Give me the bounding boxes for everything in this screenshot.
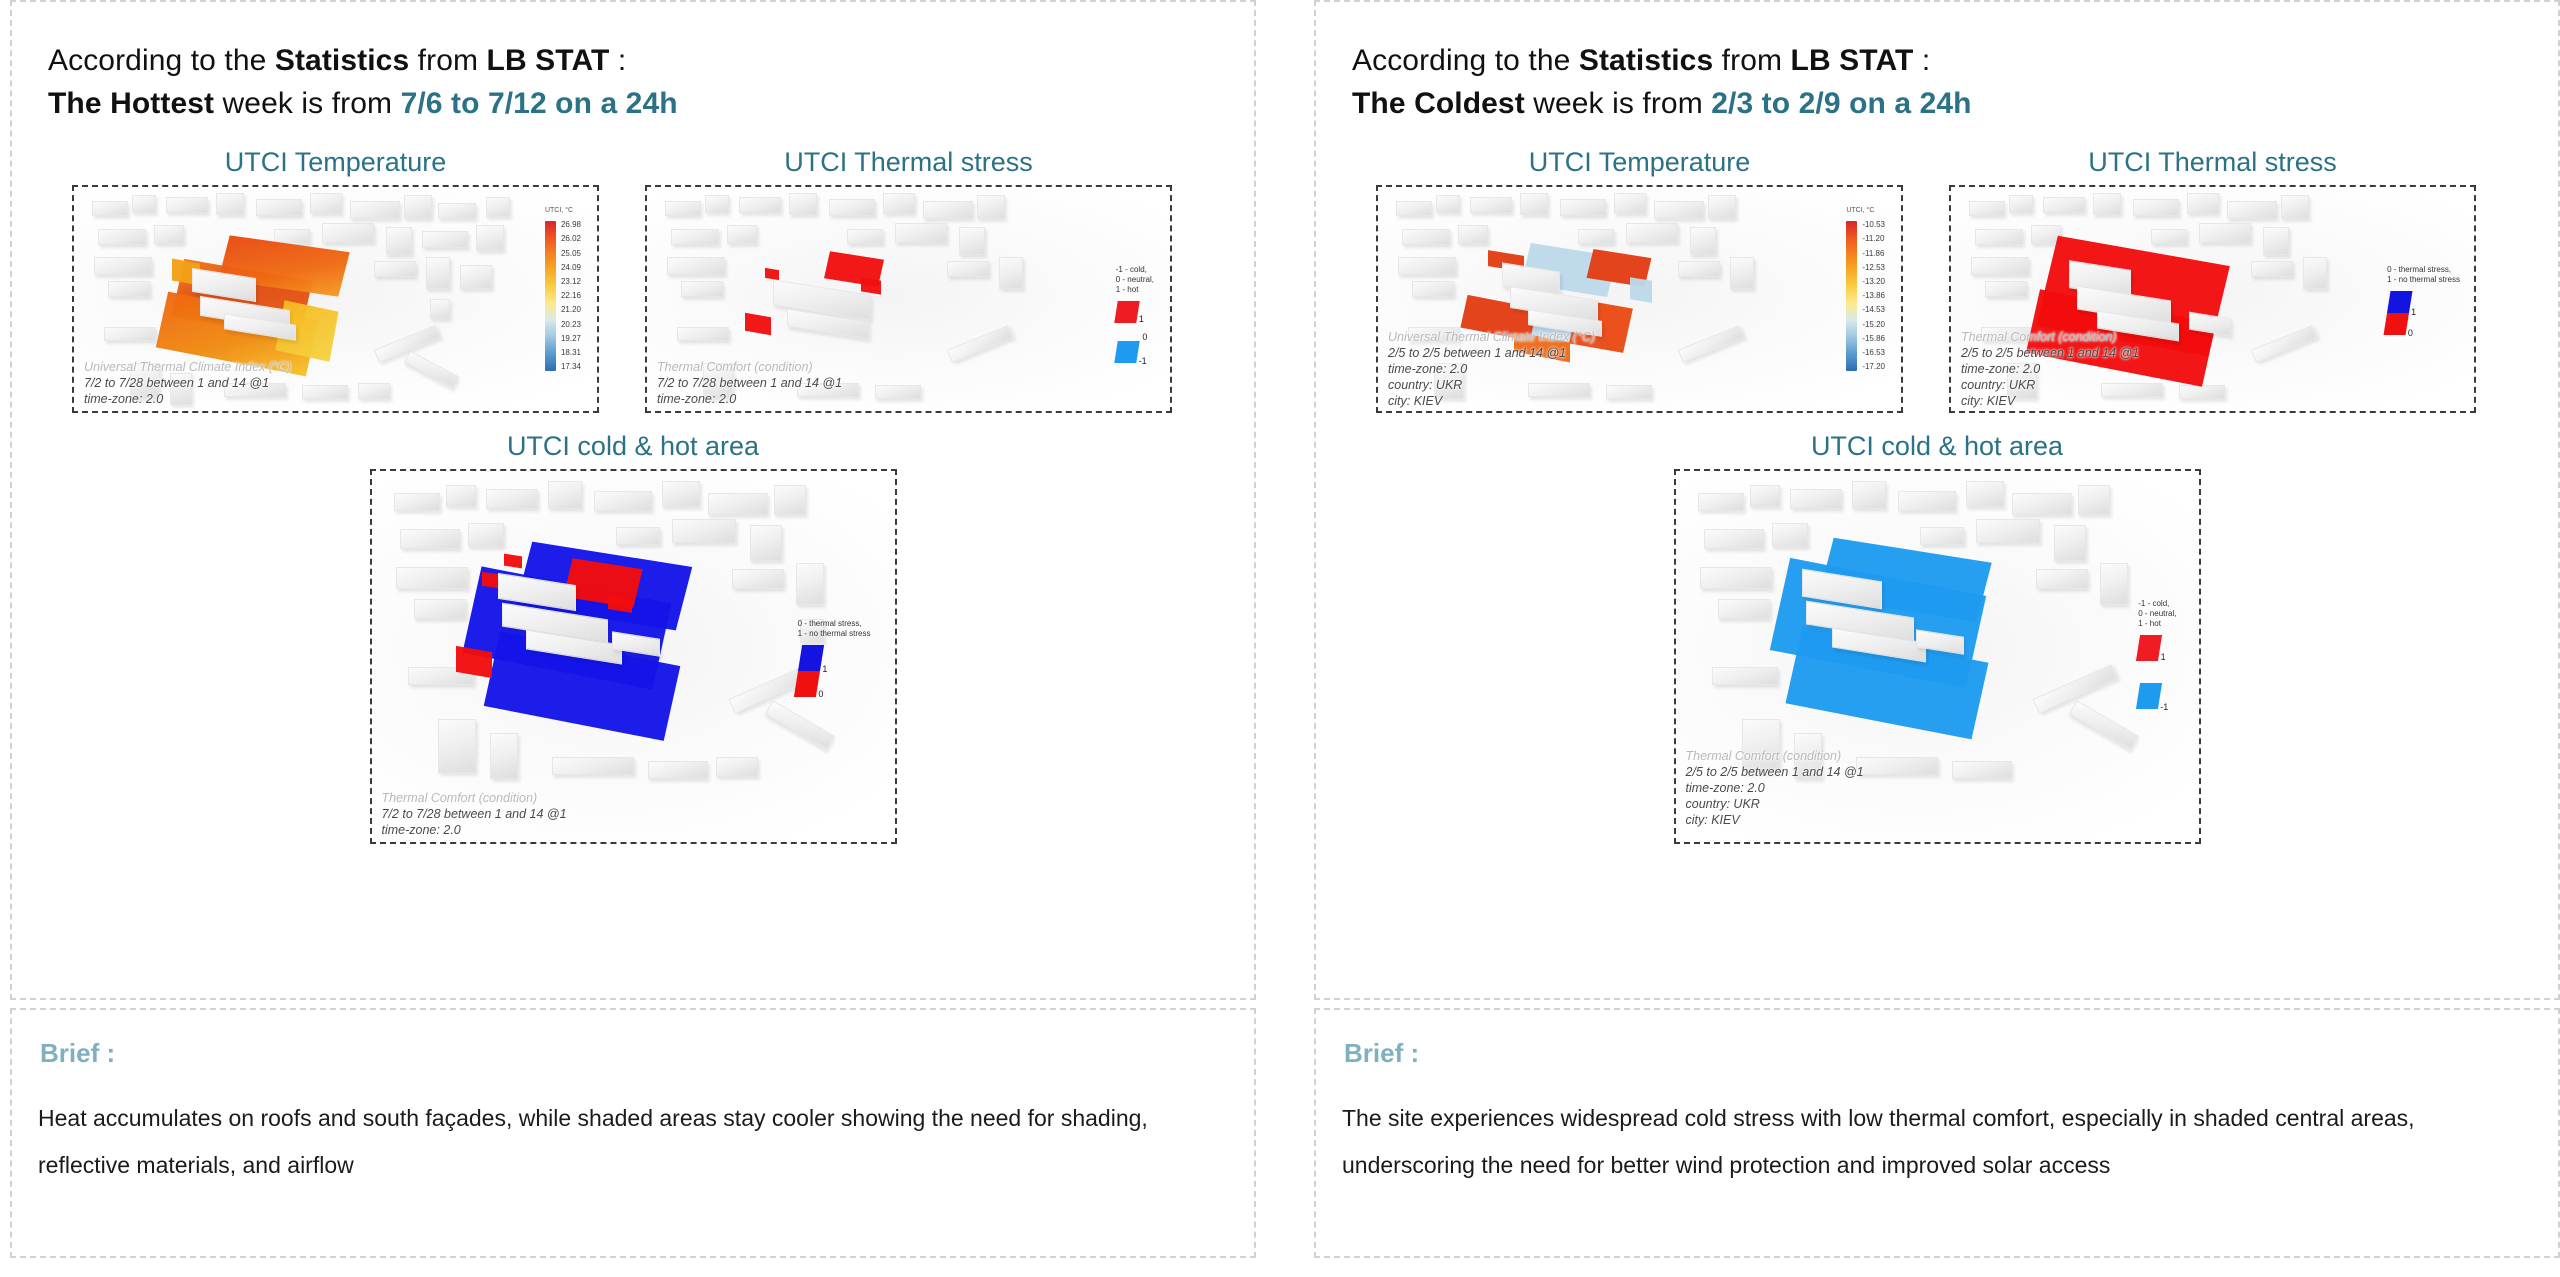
hottest-utci-colorbar: UTCI, °C 26.98 26.02 25.05 24.09 23.12 2… xyxy=(545,221,581,371)
colorbar-tick: -11.20 xyxy=(1862,235,1885,243)
colorbar-tick: -13.20 xyxy=(1862,278,1885,286)
colorbar-gradient xyxy=(545,221,556,371)
legend-value: 0 xyxy=(1142,332,1147,342)
coldest-utci-thermal-stress-render[interactable]: 0 - thermal stress, 1 - no thermal stres… xyxy=(1949,185,2476,413)
hottest-utci-thermal-stress-title: UTCI Thermal stress xyxy=(784,147,1033,178)
hottest-utci-cold-hot-area-block: UTCI cold & hot area xyxy=(370,431,897,844)
coldest-utci-cold-hot-area-block: UTCI cold & hot area xyxy=(1674,431,2201,844)
colorbar-tick: -15.86 xyxy=(1862,335,1885,343)
hottest-line1-bold2: LB STAT xyxy=(487,44,610,77)
legend-line: 0 - neutral, xyxy=(1116,275,1154,285)
colorbar-tick: -13.86 xyxy=(1862,292,1885,300)
legend-line: 0 - thermal stress, xyxy=(2387,265,2460,275)
legend-value: 0 xyxy=(2408,328,2413,338)
hottest-utci-temperature-block: UTCI Temperature xyxy=(72,147,599,413)
coldest-brief-text: The site experiences widespread cold str… xyxy=(1342,1095,2502,1189)
city-massing-scene xyxy=(74,187,597,411)
colorbar-tick: 18.31 xyxy=(561,349,581,357)
legend-value: -1 xyxy=(1138,356,1146,366)
panel-hottest: According to the Statistics from LB STAT… xyxy=(10,0,1256,1277)
legend-value: 0 xyxy=(818,689,823,699)
legend-value: 1 xyxy=(1139,314,1144,324)
legend-line: -1 - cold, xyxy=(2138,599,2176,609)
hottest-cold-hot-area-legend: 0 - thermal stress, 1 - no thermal stres… xyxy=(798,619,871,697)
city-massing-scene xyxy=(647,187,1170,411)
coldest-brief-title: Brief : xyxy=(1344,1038,2532,1069)
legend-line: 0 - thermal stress, xyxy=(798,619,871,629)
legend-value: 1 xyxy=(2411,307,2416,317)
colorbar-tick: -16.53 xyxy=(1862,349,1885,357)
colorbar-tick: -12.53 xyxy=(1862,264,1885,272)
legend-line: 1 - no thermal stress xyxy=(798,629,871,639)
colorbar-gradient xyxy=(1846,221,1857,371)
colorbar-tick: 19.27 xyxy=(561,335,581,343)
coldest-utci-temperature-block: UTCI Temperature xyxy=(1376,147,1903,413)
colorbar-tick: 22.16 xyxy=(561,292,581,300)
colorbar-tick: 21.20 xyxy=(561,306,581,314)
comparison-board: According to the Statistics from LB STAT… xyxy=(0,0,2560,1277)
colorbar-tick: 24.09 xyxy=(561,264,581,272)
panel-coldest: According to the Statistics from LB STAT… xyxy=(1314,0,2560,1277)
legend-value: 1 xyxy=(822,664,827,674)
city-massing-scene xyxy=(1378,187,1901,411)
hottest-utci-cold-hot-area-title: UTCI cold & hot area xyxy=(507,431,759,462)
legend-line: 0 - neutral, xyxy=(2138,609,2176,619)
colorbar-tick: 25.05 xyxy=(561,250,581,258)
coldest-line2-bold: The Coldest xyxy=(1352,87,1525,120)
legend-swatch-cold: 0 -1 xyxy=(1114,341,1156,363)
coldest-utci-thermal-stress-title: UTCI Thermal stress xyxy=(2088,147,2337,178)
coldest-line1-bold: Statistics xyxy=(1579,44,1713,77)
hottest-utci-temperature-render[interactable]: UTCI, °C 26.98 26.02 25.05 24.09 23.12 2… xyxy=(72,185,599,413)
coldest-line2-mid: week is from xyxy=(1525,87,1711,120)
hottest-brief-title: Brief : xyxy=(40,1038,1228,1069)
colorbar-ticks: -10.53 -11.20 -11.86 -12.53 -13.20 -13.8… xyxy=(1862,221,1885,371)
legend-swatch-stress: 1 0 xyxy=(2384,291,2464,335)
legend-value: 1 xyxy=(2161,652,2166,662)
coldest-line1-pre: According to the xyxy=(1352,44,1579,77)
hottest-viz-row-bottom: UTCI cold & hot area xyxy=(34,431,1232,844)
legend-swatch-hot: 1 xyxy=(1114,301,1156,323)
colorbar-tick: 26.98 xyxy=(561,221,581,229)
coldest-date-range: 2/3 to 2/9 on a 24h xyxy=(1711,87,1971,120)
legend-value: -1 xyxy=(2161,702,2169,712)
hottest-line2-bold: The Hottest xyxy=(48,87,214,120)
hottest-line1-post: : xyxy=(609,44,626,77)
colorbar-tick: 26.02 xyxy=(561,235,581,243)
colorbar-tick: 20.23 xyxy=(561,321,581,329)
colorbar-ticks: 26.98 26.02 25.05 24.09 23.12 22.16 21.2… xyxy=(561,221,581,371)
colorbar-tick: -17.20 xyxy=(1862,363,1885,371)
coldest-line1-bold2: LB STAT xyxy=(1791,44,1914,77)
hottest-utci-temperature-title: UTCI Temperature xyxy=(225,147,447,178)
colorbar-tick: -11.86 xyxy=(1862,250,1885,258)
coldest-utci-cold-hot-area-render[interactable]: -1 - cold, 0 - neutral, 1 - hot 1 -1 xyxy=(1674,469,2201,844)
coldest-utci-cold-hot-area-title: UTCI cold & hot area xyxy=(1811,431,2063,462)
legend-swatch-hot: 1 xyxy=(2136,635,2178,661)
hottest-brief-panel: Brief : Heat accumulates on roofs and so… xyxy=(10,1008,1256,1258)
hottest-main-panel: According to the Statistics from LB STAT… xyxy=(10,0,1256,1000)
hottest-utci-thermal-stress-render[interactable]: -1 - cold, 0 - neutral, 1 - hot 1 0 xyxy=(645,185,1172,413)
colorbar-tick: -10.53 xyxy=(1862,221,1885,229)
hottest-thermal-stress-legend: -1 - cold, 0 - neutral, 1 - hot 1 0 xyxy=(1116,265,1154,363)
hottest-brief-text: Heat accumulates on roofs and south faça… xyxy=(38,1095,1198,1189)
coldest-brief-panel: Brief : The site experiences widespread … xyxy=(1314,1008,2560,1258)
colorbar-tick: -14.53 xyxy=(1862,306,1885,314)
colorbar-title: UTCI, °C xyxy=(1846,207,1874,214)
hottest-viz-row-top: UTCI Temperature xyxy=(34,147,1232,413)
coldest-main-panel: According to the Statistics from LB STAT… xyxy=(1314,0,2560,1000)
coldest-utci-temperature-title: UTCI Temperature xyxy=(1529,147,1751,178)
coldest-thermal-stress-legend: 0 - thermal stress, 1 - no thermal stres… xyxy=(2387,265,2460,335)
legend-swatch-cold: -1 xyxy=(2136,683,2178,709)
hottest-line1-bold: Statistics xyxy=(275,44,409,77)
legend-line: 1 - hot xyxy=(1116,285,1154,295)
hottest-line2-mid: week is from xyxy=(214,87,400,120)
colorbar-tick: 17.34 xyxy=(561,363,581,371)
hottest-utci-thermal-stress-block: UTCI Thermal stress xyxy=(645,147,1172,413)
coldest-utci-colorbar: UTCI, °C -10.53 -11.20 -11.86 -12.53 -13… xyxy=(1846,221,1885,371)
coldest-line1-mid: from xyxy=(1713,44,1790,77)
coldest-utci-thermal-stress-block: UTCI Thermal stress xyxy=(1949,147,2476,413)
coldest-viz-row-top: UTCI Temperature xyxy=(1338,147,2536,413)
hottest-line1-mid: from xyxy=(409,44,486,77)
colorbar-tick: -15.20 xyxy=(1862,321,1885,329)
legend-swatch-stress: 1 0 xyxy=(793,645,874,697)
coldest-stat-header: According to the Statistics from LB STAT… xyxy=(1352,40,2536,125)
legend-line: 1 - hot xyxy=(2138,619,2176,629)
colorbar-title: UTCI, °C xyxy=(545,207,573,214)
hottest-stat-header: According to the Statistics from LB STAT… xyxy=(48,40,1232,125)
colorbar-tick: 23.12 xyxy=(561,278,581,286)
legend-line: 1 - no thermal stress xyxy=(2387,275,2460,285)
coldest-viz-row-bottom: UTCI cold & hot area xyxy=(1338,431,2536,844)
hottest-date-range: 7/6 to 7/12 on a 24h xyxy=(401,87,678,120)
hottest-utci-cold-hot-area-render[interactable]: 0 - thermal stress, 1 - no thermal stres… xyxy=(370,469,897,844)
coldest-line1-post: : xyxy=(1913,44,1930,77)
city-massing-scene xyxy=(1676,471,2199,842)
coldest-utci-temperature-render[interactable]: UTCI, °C -10.53 -11.20 -11.86 -12.53 -13… xyxy=(1376,185,1903,413)
coldest-cold-hot-area-legend: -1 - cold, 0 - neutral, 1 - hot 1 -1 xyxy=(2138,599,2176,709)
hottest-line1-pre: According to the xyxy=(48,44,275,77)
legend-line: -1 - cold, xyxy=(1116,265,1154,275)
